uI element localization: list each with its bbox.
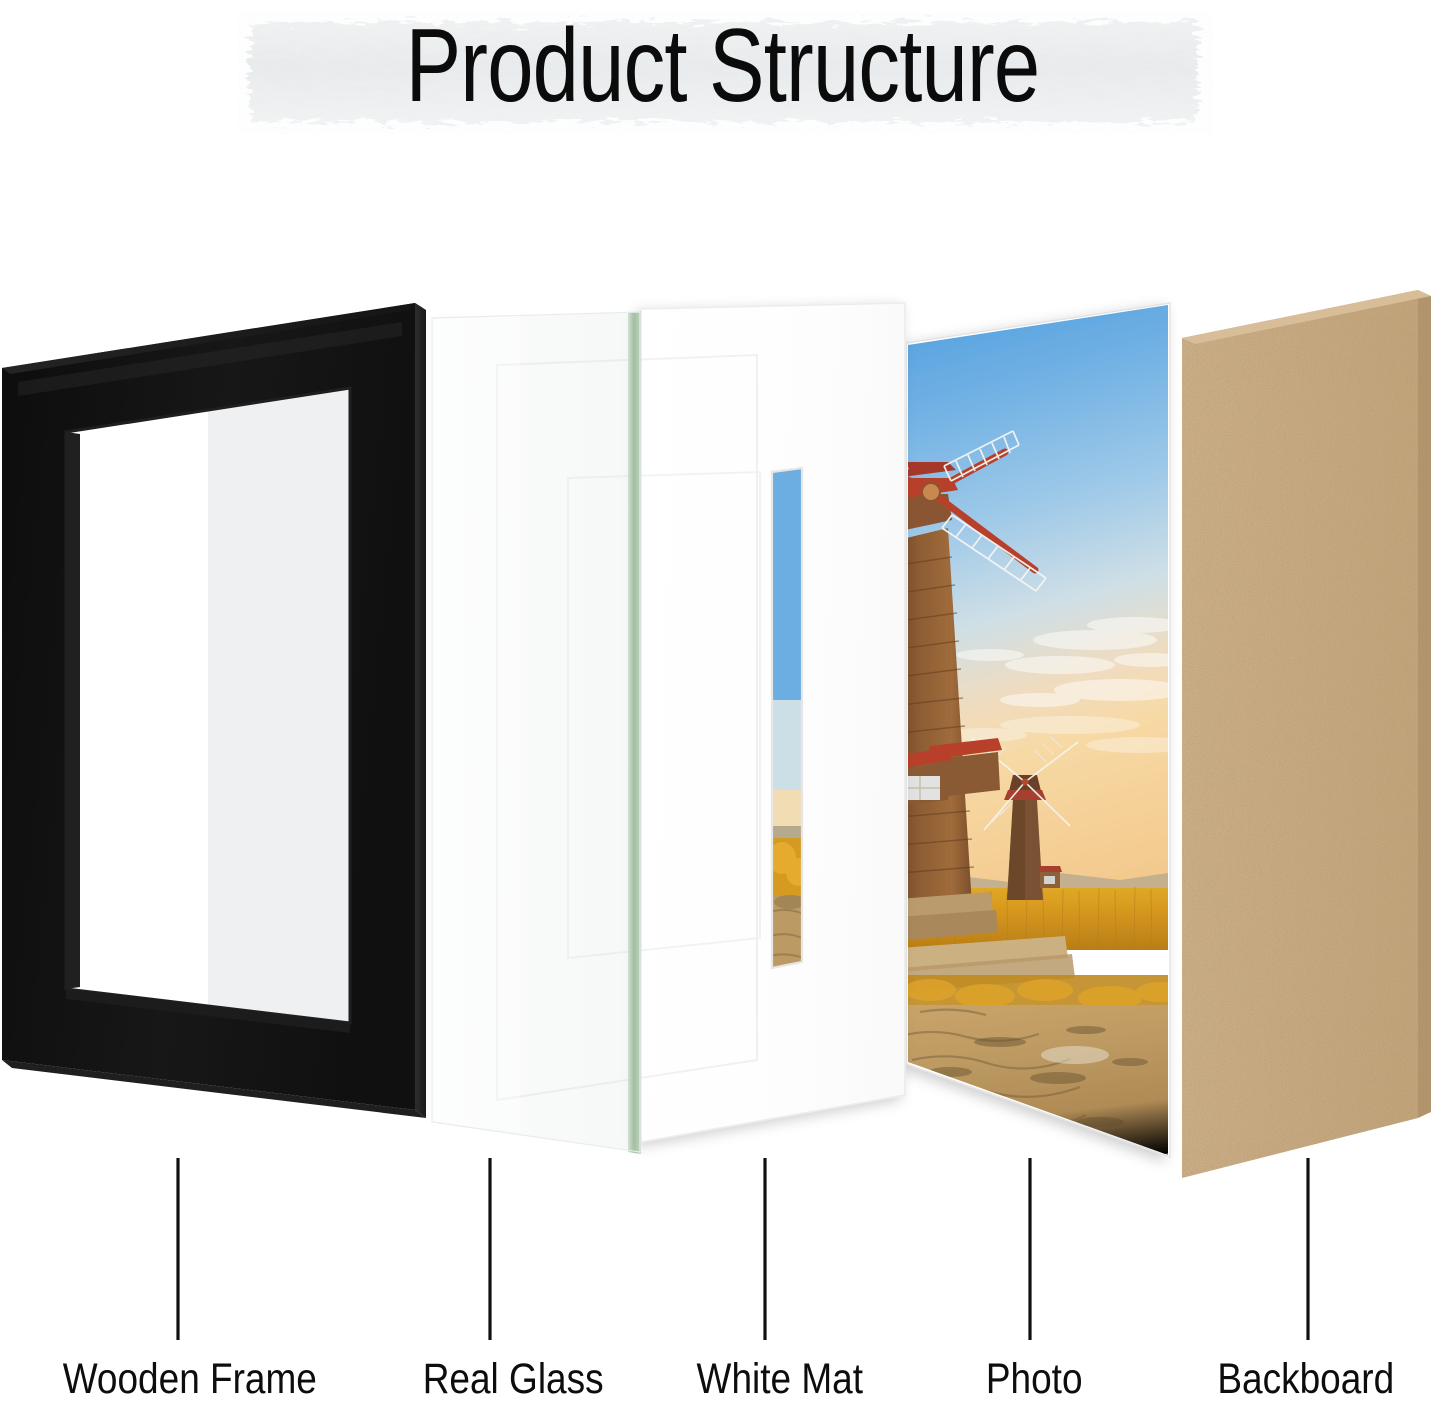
- backboard-thickness-edge: [1418, 290, 1431, 1118]
- component-photo[interactable]: [860, 295, 1194, 1180]
- label-real-glass: Real Glass: [423, 1355, 604, 1404]
- component-backboard[interactable]: [1180, 285, 1431, 1185]
- photo-artwork: [860, 295, 1194, 1180]
- exploded-product-diagram: [0, 0, 1445, 1419]
- component-wooden-frame[interactable]: [2, 303, 426, 1118]
- label-wooden-frame: Wooden Frame: [63, 1355, 317, 1404]
- glass-green-edge: [628, 311, 641, 1154]
- frame-inner-rebate-left: [66, 432, 80, 989]
- label-photo: Photo: [986, 1355, 1083, 1404]
- frame-right-side: [415, 303, 426, 1118]
- component-labels-row: Wooden Frame Real Glass White Mat Photo …: [0, 1355, 1445, 1419]
- label-white-mat: White Mat: [697, 1355, 863, 1404]
- frame-opening-glass-tint: [208, 388, 350, 1023]
- leader-lines: [178, 1158, 1308, 1340]
- label-backboard: Backboard: [1217, 1355, 1394, 1404]
- glass-sheen: [432, 315, 520, 1132]
- component-white-mat[interactable]: [641, 303, 905, 1142]
